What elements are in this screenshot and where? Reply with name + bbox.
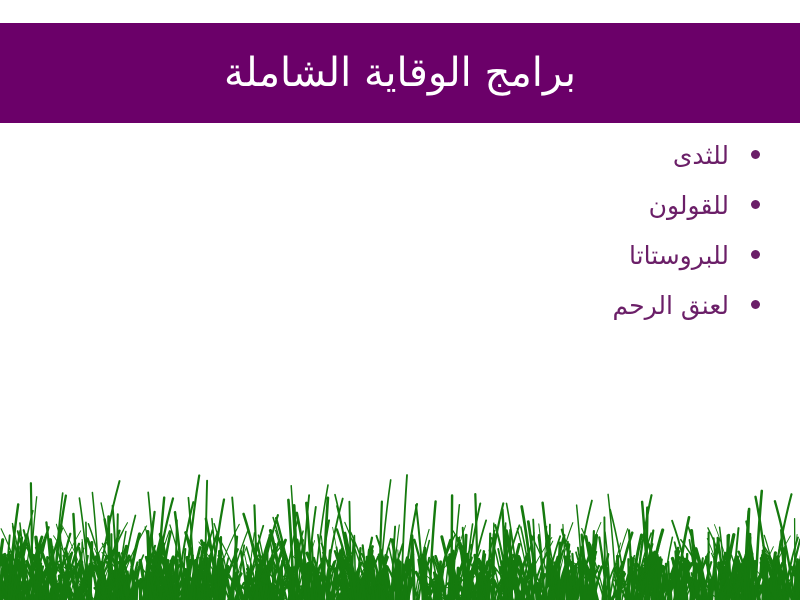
grass-border-icon xyxy=(0,470,800,600)
bullet-item-label: للثدى xyxy=(673,142,729,171)
bullet-item-label: للقولون xyxy=(649,192,729,221)
bullet-marker-icon xyxy=(751,150,760,159)
bullet-item-label: للبروستاتا xyxy=(629,242,729,271)
list-item: للبروستاتا xyxy=(334,242,764,292)
slide-canvas: برامج الوقاية الشاملة للثدى للقولون للبر… xyxy=(0,0,800,600)
list-item: للقولون xyxy=(334,192,764,242)
list-item: لعنق الرحم xyxy=(334,292,764,342)
page-title: برامج الوقاية الشاملة xyxy=(216,51,584,95)
bullet-item-label: لعنق الرحم xyxy=(613,292,729,321)
title-banner: برامج الوقاية الشاملة xyxy=(0,23,800,123)
bullet-marker-icon xyxy=(751,300,760,309)
bullet-list: للثدى للقولون للبروستاتا لعنق الرحم xyxy=(334,142,764,342)
list-item: للثدى xyxy=(334,142,764,192)
bullet-marker-icon xyxy=(751,200,760,209)
bullet-marker-icon xyxy=(751,250,760,259)
